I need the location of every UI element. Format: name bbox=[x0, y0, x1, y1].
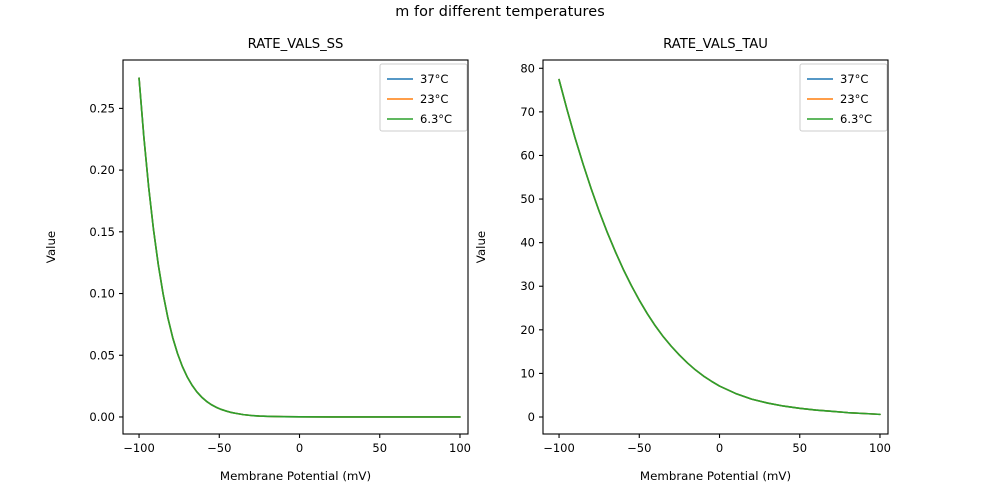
matplotlib-figure: m for different temperatures RATE_VALS_S… bbox=[0, 0, 1000, 500]
legend-label-1[interactable]: 23°C bbox=[840, 92, 868, 106]
y-tick-label: 0.10 bbox=[89, 287, 115, 301]
x-axis-label: Membrane Potential (mV) bbox=[640, 469, 791, 483]
x-axis-label: Membrane Potential (mV) bbox=[220, 469, 371, 483]
y-tick-label: 0.00 bbox=[89, 410, 115, 424]
y-tick-label: 70 bbox=[520, 105, 535, 119]
legend-label-0[interactable]: 37°C bbox=[840, 72, 868, 86]
x-tick-label: 100 bbox=[869, 441, 891, 455]
x-tick-label: −100 bbox=[543, 441, 575, 455]
y-tick-label: 50 bbox=[520, 192, 535, 206]
y-tick-label: 10 bbox=[520, 366, 535, 380]
x-tick-label: 0 bbox=[716, 441, 723, 455]
y-tick-label: 80 bbox=[520, 61, 535, 75]
x-tick-label: −50 bbox=[207, 441, 231, 455]
x-tick-label: 50 bbox=[792, 441, 807, 455]
legend-label-0[interactable]: 37°C bbox=[420, 72, 448, 86]
y-tick-label: 0.05 bbox=[89, 348, 115, 362]
x-tick-label: −100 bbox=[123, 441, 155, 455]
y-tick-label: 0.20 bbox=[89, 163, 115, 177]
subplot-title: RATE_VALS_SS bbox=[248, 37, 344, 52]
legend-label-1[interactable]: 23°C bbox=[420, 92, 448, 106]
y-tick-label: 60 bbox=[520, 148, 535, 162]
y-tick-label: 40 bbox=[520, 236, 535, 250]
x-tick-label: −50 bbox=[627, 441, 651, 455]
plots-svg-canvas: RATE_VALS_SS−100−500501000.000.050.100.1… bbox=[0, 0, 1000, 500]
y-axis-label: Value bbox=[44, 231, 58, 263]
y-tick-label: 20 bbox=[520, 323, 535, 337]
y-tick-label: 30 bbox=[520, 279, 535, 293]
y-tick-label: 0.25 bbox=[89, 101, 115, 115]
subplot-title: RATE_VALS_TAU bbox=[663, 37, 768, 52]
x-tick-label: 100 bbox=[449, 441, 471, 455]
legend: 37°C23°C6.3°C bbox=[800, 64, 887, 131]
axes-tau: RATE_VALS_TAU−100−5005010001020304050607… bbox=[474, 37, 891, 483]
y-tick-label: 0 bbox=[528, 410, 535, 424]
legend-label-2[interactable]: 6.3°C bbox=[840, 112, 872, 126]
x-tick-label: 0 bbox=[296, 441, 303, 455]
axes-container: RATE_VALS_SS−100−500501000.000.050.100.1… bbox=[0, 0, 1000, 500]
x-tick-label: 50 bbox=[372, 441, 387, 455]
legend: 37°C23°C6.3°C bbox=[380, 64, 467, 131]
y-tick-label: 0.15 bbox=[89, 225, 115, 239]
axes-ss: RATE_VALS_SS−100−500501000.000.050.100.1… bbox=[44, 37, 471, 483]
legend-label-2[interactable]: 6.3°C bbox=[420, 112, 452, 126]
y-axis-label: Value bbox=[474, 231, 488, 263]
